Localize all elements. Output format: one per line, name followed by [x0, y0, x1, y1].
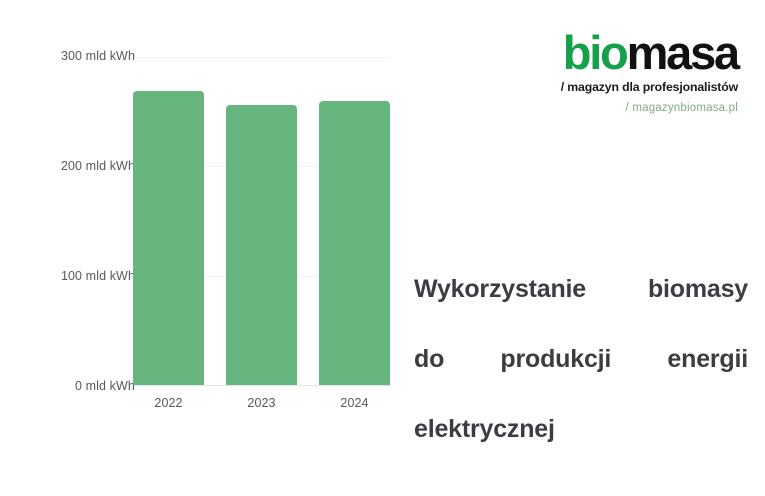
logo-wordmark: biomasa — [488, 28, 738, 78]
logo-website-url[interactable]: / magazynbiomasa.pl — [488, 102, 738, 114]
bar-group: 2022 2023 2024 — [0, 0, 400, 420]
bar-2023[interactable] — [226, 105, 297, 385]
headline-line-3: elektrycznej — [414, 412, 748, 447]
bar-2022[interactable] — [133, 91, 204, 385]
headline-line-2: do produkcji energii — [414, 342, 748, 412]
biomasa-logo[interactable]: biomasa / magazyn dla profesjonalistów /… — [488, 28, 738, 114]
x-tick-label-2022: 2022 — [133, 396, 204, 410]
headline-line-1: Wykorzystanie biomasy — [414, 272, 748, 342]
x-tick-label-2023: 2023 — [226, 396, 297, 410]
page-title: Wykorzystanie biomasy do produkcji energ… — [414, 272, 748, 447]
bar-2024[interactable] — [319, 101, 390, 385]
logo-tagline: / magazyn dla profesjonalistów — [488, 80, 738, 94]
infographic-canvas: 300 mld kWh 200 mld kWh 100 mld kWh 0 ml… — [0, 0, 765, 496]
logo-word-masa: masa — [627, 26, 738, 79]
bar-chart: 300 mld kWh 200 mld kWh 100 mld kWh 0 ml… — [0, 0, 400, 420]
x-tick-label-2024: 2024 — [319, 396, 390, 410]
logo-word-bio: bio — [563, 26, 627, 79]
